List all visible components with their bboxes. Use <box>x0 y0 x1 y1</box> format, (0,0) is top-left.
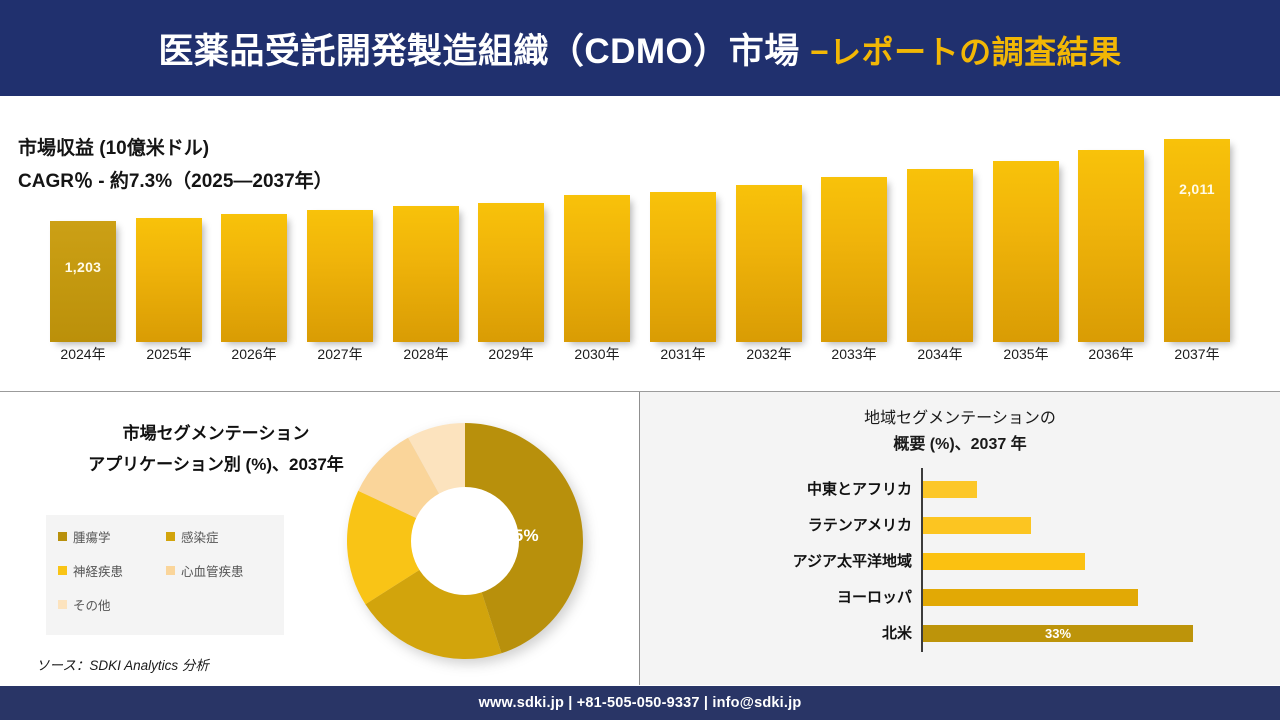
legend-item-label: 神経疾患 <box>73 561 123 580</box>
revenue-bar <box>307 210 373 342</box>
region-bar-label: ラテンアメリカ <box>660 514 912 535</box>
region-bar-label: ヨーロッパ <box>660 586 912 607</box>
donut-chart-title-line2: アプリケーション別 (%)、2037年 <box>36 449 396 480</box>
bar-axis-tick-label: 2030年 <box>564 344 630 364</box>
bar-column <box>650 130 716 342</box>
region-bar-row: アジア太平洋地域 <box>640 544 1280 578</box>
region-bar <box>923 553 1085 570</box>
bar-column <box>393 130 459 342</box>
revenue-bar <box>1078 150 1144 342</box>
donut-chart: 45% <box>344 420 586 662</box>
legend-item[interactable]: 神経疾患 <box>58 561 166 580</box>
region-chart-title-line2: 概要 (%)、2037 年 <box>893 436 1026 453</box>
legend-row: 腫瘍学感染症 <box>58 527 274 561</box>
bar-axis-tick-label: 2027年 <box>307 344 373 364</box>
source-note: ソース：SDKI Analytics 分析 <box>36 654 209 674</box>
revenue-bar <box>907 169 973 342</box>
bar-value-label: 1,203 <box>50 259 116 275</box>
region-bar: 33% <box>923 625 1193 642</box>
revenue-bar: 2,011 <box>1164 139 1230 342</box>
bar-axis-tick-label: 2029年 <box>478 344 544 364</box>
legend-item[interactable]: 腫瘍学 <box>58 527 166 546</box>
legend-swatch-icon <box>58 566 67 575</box>
bar-value-label: 2,011 <box>1164 181 1230 197</box>
region-bar-label: 北米 <box>660 622 912 643</box>
bar-column <box>478 130 544 342</box>
region-bar-label: 中東とアフリカ <box>660 478 912 499</box>
region-bar-value-label: 33% <box>923 626 1193 641</box>
donut-chart-title-line1: 市場セグメンテーション <box>36 418 396 449</box>
donut-chart-svg <box>344 420 586 662</box>
application-segmentation-panel: 市場セグメンテーション アプリケーション別 (%)、2037年 腫瘍学感染症神経… <box>0 392 639 685</box>
region-bar-row: 北米33% <box>640 616 1280 650</box>
bar-column: 2,011 <box>1164 130 1230 342</box>
revenue-bar-chart-x-axis: 2024年2025年2026年2027年2028年2029年2030年2031年… <box>40 344 1240 370</box>
legend-item-label: その他 <box>73 595 111 614</box>
bar-axis-tick-label: 2033年 <box>821 344 887 364</box>
region-bar-row: ラテンアメリカ <box>640 508 1280 542</box>
revenue-bar: 1,203 <box>50 221 116 342</box>
page-title: 医薬品受託開発製造組織（CDMO）市場 −レポートの調査結果 <box>158 23 1121 74</box>
legend-swatch-icon <box>58 600 67 609</box>
legend-item-label: 感染症 <box>181 527 219 546</box>
legend-item[interactable]: 心血管疾患 <box>166 561 274 580</box>
bar-axis-tick-label: 2025年 <box>136 344 202 364</box>
revenue-bar <box>221 214 287 342</box>
legend-swatch-icon <box>166 532 175 541</box>
bar-column <box>221 130 287 342</box>
footer-contact-text: www.sdki.jp | +81-505-050-9337 | info@sd… <box>479 695 802 711</box>
revenue-bar <box>736 185 802 342</box>
revenue-bar <box>564 195 630 342</box>
donut-primary-value-label: 45% <box>504 526 539 546</box>
legend-swatch-icon <box>166 566 175 575</box>
region-bar-row: ヨーロッパ <box>640 580 1280 614</box>
infographic-page: 医薬品受託開発製造組織（CDMO）市場 −レポートの調査結果 市場収益 (10億… <box>0 0 1280 720</box>
bar-column <box>307 130 373 342</box>
page-title-accent: −レポートの調査結果 <box>810 34 1122 70</box>
donut-legend: 腫瘍学感染症神経疾患心血管疾患その他 <box>46 515 284 635</box>
donut-chart-title: 市場セグメンテーション アプリケーション別 (%)、2037年 <box>36 418 396 480</box>
bar-axis-tick-label: 2032年 <box>736 344 802 364</box>
bar-column <box>993 130 1059 342</box>
footer-bar: www.sdki.jp | +81-505-050-9337 | info@sd… <box>0 686 1280 720</box>
bar-column <box>136 130 202 342</box>
bar-axis-tick-label: 2035年 <box>993 344 1059 364</box>
bar-axis-tick-label: 2034年 <box>907 344 973 364</box>
donut-hole <box>411 487 519 595</box>
legend-swatch-icon <box>58 532 67 541</box>
bar-column <box>821 130 887 342</box>
region-chart-title-line1: 地域セグメンテーションの <box>700 406 1220 432</box>
bar-axis-tick-label: 2024年 <box>50 344 116 364</box>
bar-axis-tick-label: 2036年 <box>1078 344 1144 364</box>
region-bar <box>923 481 977 498</box>
legend-item-label: 腫瘍学 <box>73 527 111 546</box>
revenue-bar <box>136 218 202 342</box>
bar-column <box>564 130 630 342</box>
legend-item[interactable]: 感染症 <box>166 527 274 546</box>
bar-axis-tick-label: 2031年 <box>650 344 716 364</box>
bar-axis-tick-label: 2037年 <box>1164 344 1230 364</box>
bar-axis-tick-label: 2026年 <box>221 344 287 364</box>
bar-column: 1,203 <box>50 130 116 342</box>
region-bar-row: 中東とアフリカ <box>640 472 1280 506</box>
revenue-bar <box>650 192 716 342</box>
region-bar <box>923 589 1138 606</box>
header-banner: 医薬品受託開発製造組織（CDMO）市場 −レポートの調査結果 <box>0 0 1280 96</box>
legend-row: その他 <box>58 595 274 629</box>
bar-column <box>907 130 973 342</box>
bar-column <box>1078 130 1144 342</box>
page-title-main: 医薬品受託開発製造組織（CDMO）市場 <box>158 32 799 71</box>
region-bar-label: アジア太平洋地域 <box>660 550 912 571</box>
region-bar <box>923 517 1031 534</box>
legend-item[interactable]: その他 <box>58 595 171 614</box>
bar-column <box>736 130 802 342</box>
legend-item-label: 心血管疾患 <box>181 561 244 580</box>
revenue-bar <box>478 203 544 342</box>
region-chart-title: 地域セグメンテーションの 概要 (%)、2037 年 <box>700 406 1220 458</box>
bar-axis-tick-label: 2028年 <box>393 344 459 364</box>
legend-row: 神経疾患心血管疾患 <box>58 561 274 595</box>
revenue-bar <box>393 206 459 342</box>
revenue-bar <box>993 161 1059 342</box>
revenue-bar-chart: 1,2032,011 <box>40 130 1240 342</box>
regional-segmentation-panel: 地域セグメンテーションの 概要 (%)、2037 年 中東とアフリカラテンアメリ… <box>640 392 1280 685</box>
revenue-bar <box>821 177 887 342</box>
